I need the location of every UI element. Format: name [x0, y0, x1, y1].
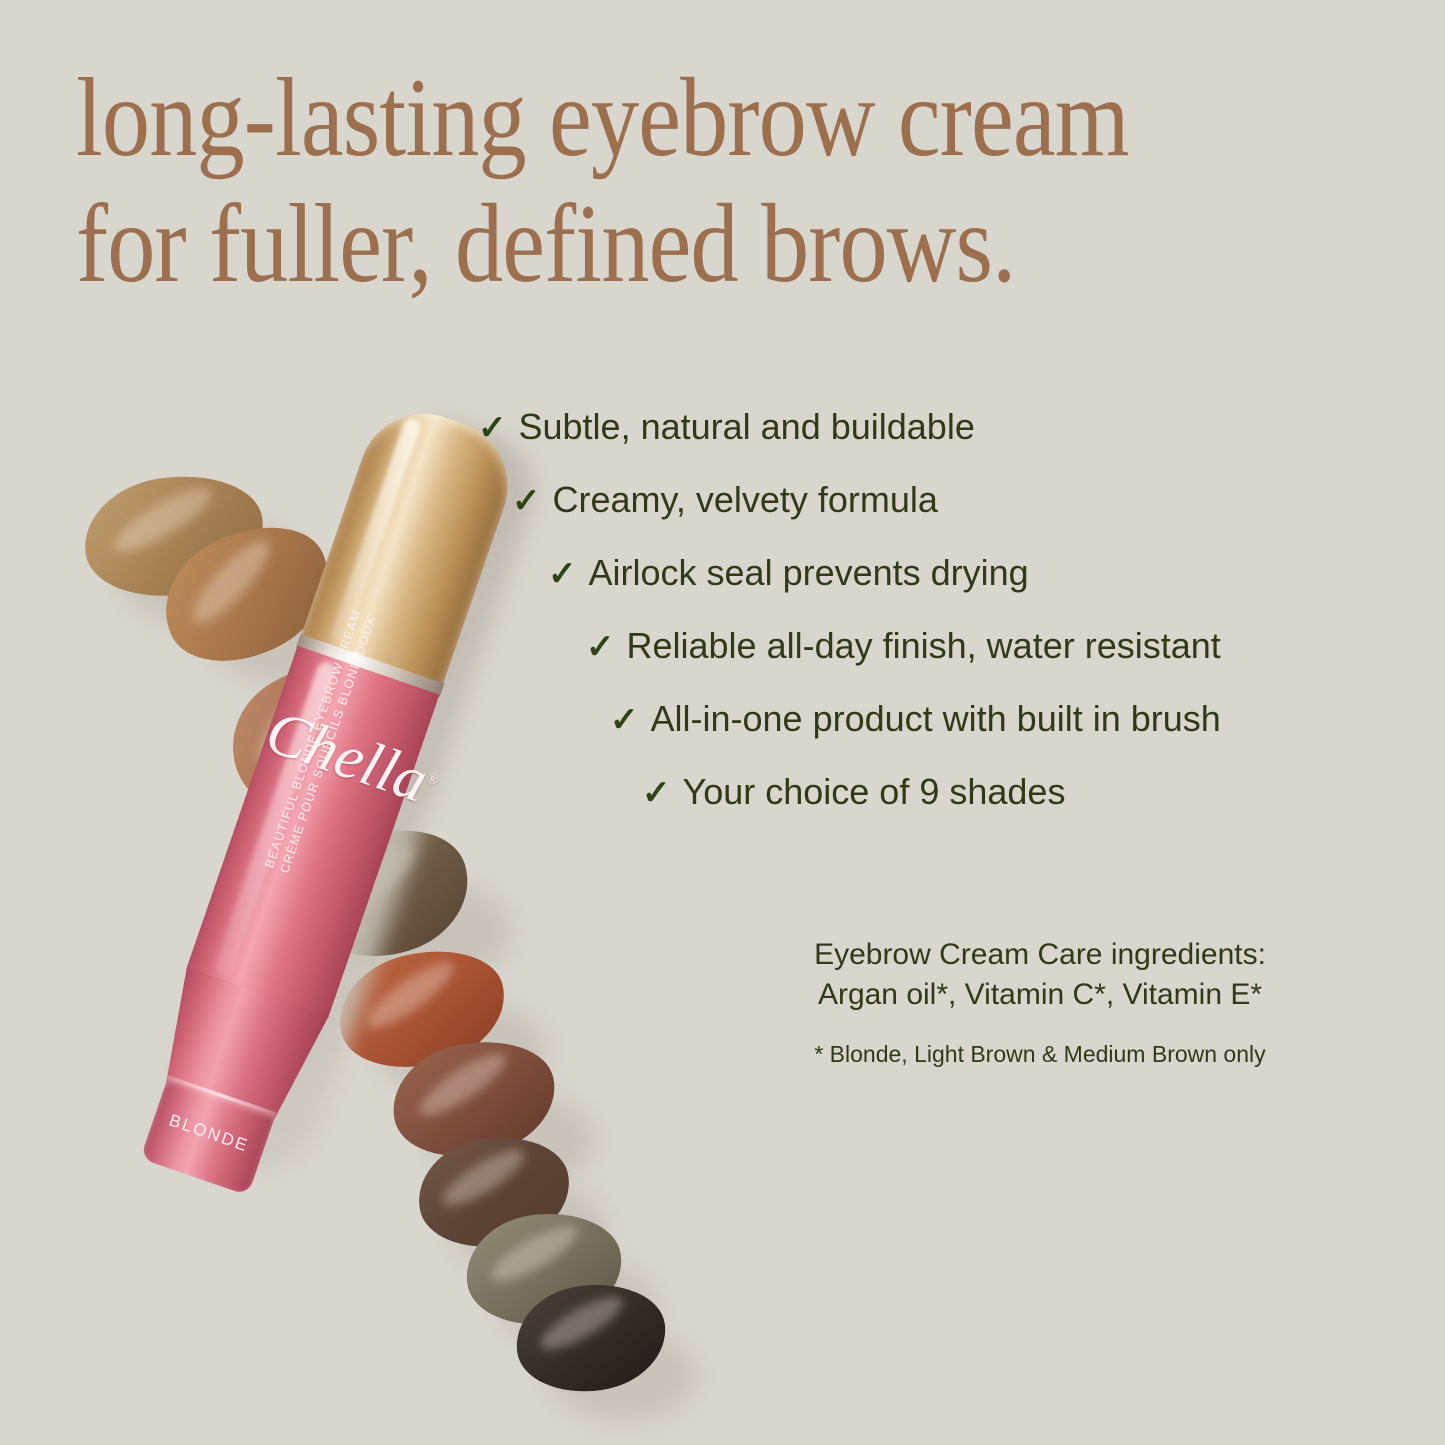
headline-line-1: long-lasting eyebrow cream: [76, 56, 1129, 180]
cap-highlight: [329, 417, 422, 646]
list-item: ✓ Subtle, natural and buildable: [478, 405, 1370, 450]
list-item: ✓ Airlock seal prevents drying: [548, 551, 1370, 596]
ingredients-footnote: * Blonde, Light Brown & Medium Brown onl…: [740, 1039, 1340, 1069]
ingredients-block: Eyebrow Cream Care ingredients: Argan oi…: [740, 935, 1340, 1069]
headline-line-2: for fuller, defined brows.: [76, 188, 1228, 300]
benefit-text: Your choice of 9 shades: [683, 770, 1066, 814]
product-marketing-image: long-lasting eyebrow cream for fuller, d…: [0, 0, 1445, 1445]
check-icon: ✓: [586, 625, 615, 669]
benefits-list: ✓ Subtle, natural and buildable ✓ Creamy…: [470, 405, 1370, 843]
check-icon: ✓: [512, 479, 541, 523]
list-item: ✓ Creamy, velvety formula: [512, 478, 1370, 523]
benefit-text: Creamy, velvety formula: [553, 478, 938, 522]
benefit-text: All-in-one product with built in brush: [651, 697, 1221, 741]
list-item: ✓ Your choice of 9 shades: [642, 770, 1370, 815]
check-icon: ✓: [642, 771, 671, 815]
list-item: ✓ Reliable all-day finish, water resista…: [586, 624, 1370, 669]
benefit-text: Airlock seal prevents drying: [589, 551, 1029, 595]
benefit-text: Reliable all-day finish, water resistant: [627, 624, 1221, 668]
benefit-text: Subtle, natural and buildable: [519, 405, 975, 449]
check-icon: ✓: [548, 552, 577, 596]
ingredients-list: Argan oil*, Vitamin C*, Vitamin E*: [740, 975, 1340, 1015]
check-icon: ✓: [610, 698, 639, 742]
list-item: ✓ All-in-one product with built in brush: [610, 697, 1370, 742]
page-headline: long-lasting eyebrow cream for fuller, d…: [76, 62, 1228, 300]
ingredients-heading: Eyebrow Cream Care ingredients:: [740, 935, 1340, 975]
check-icon: ✓: [478, 406, 507, 450]
